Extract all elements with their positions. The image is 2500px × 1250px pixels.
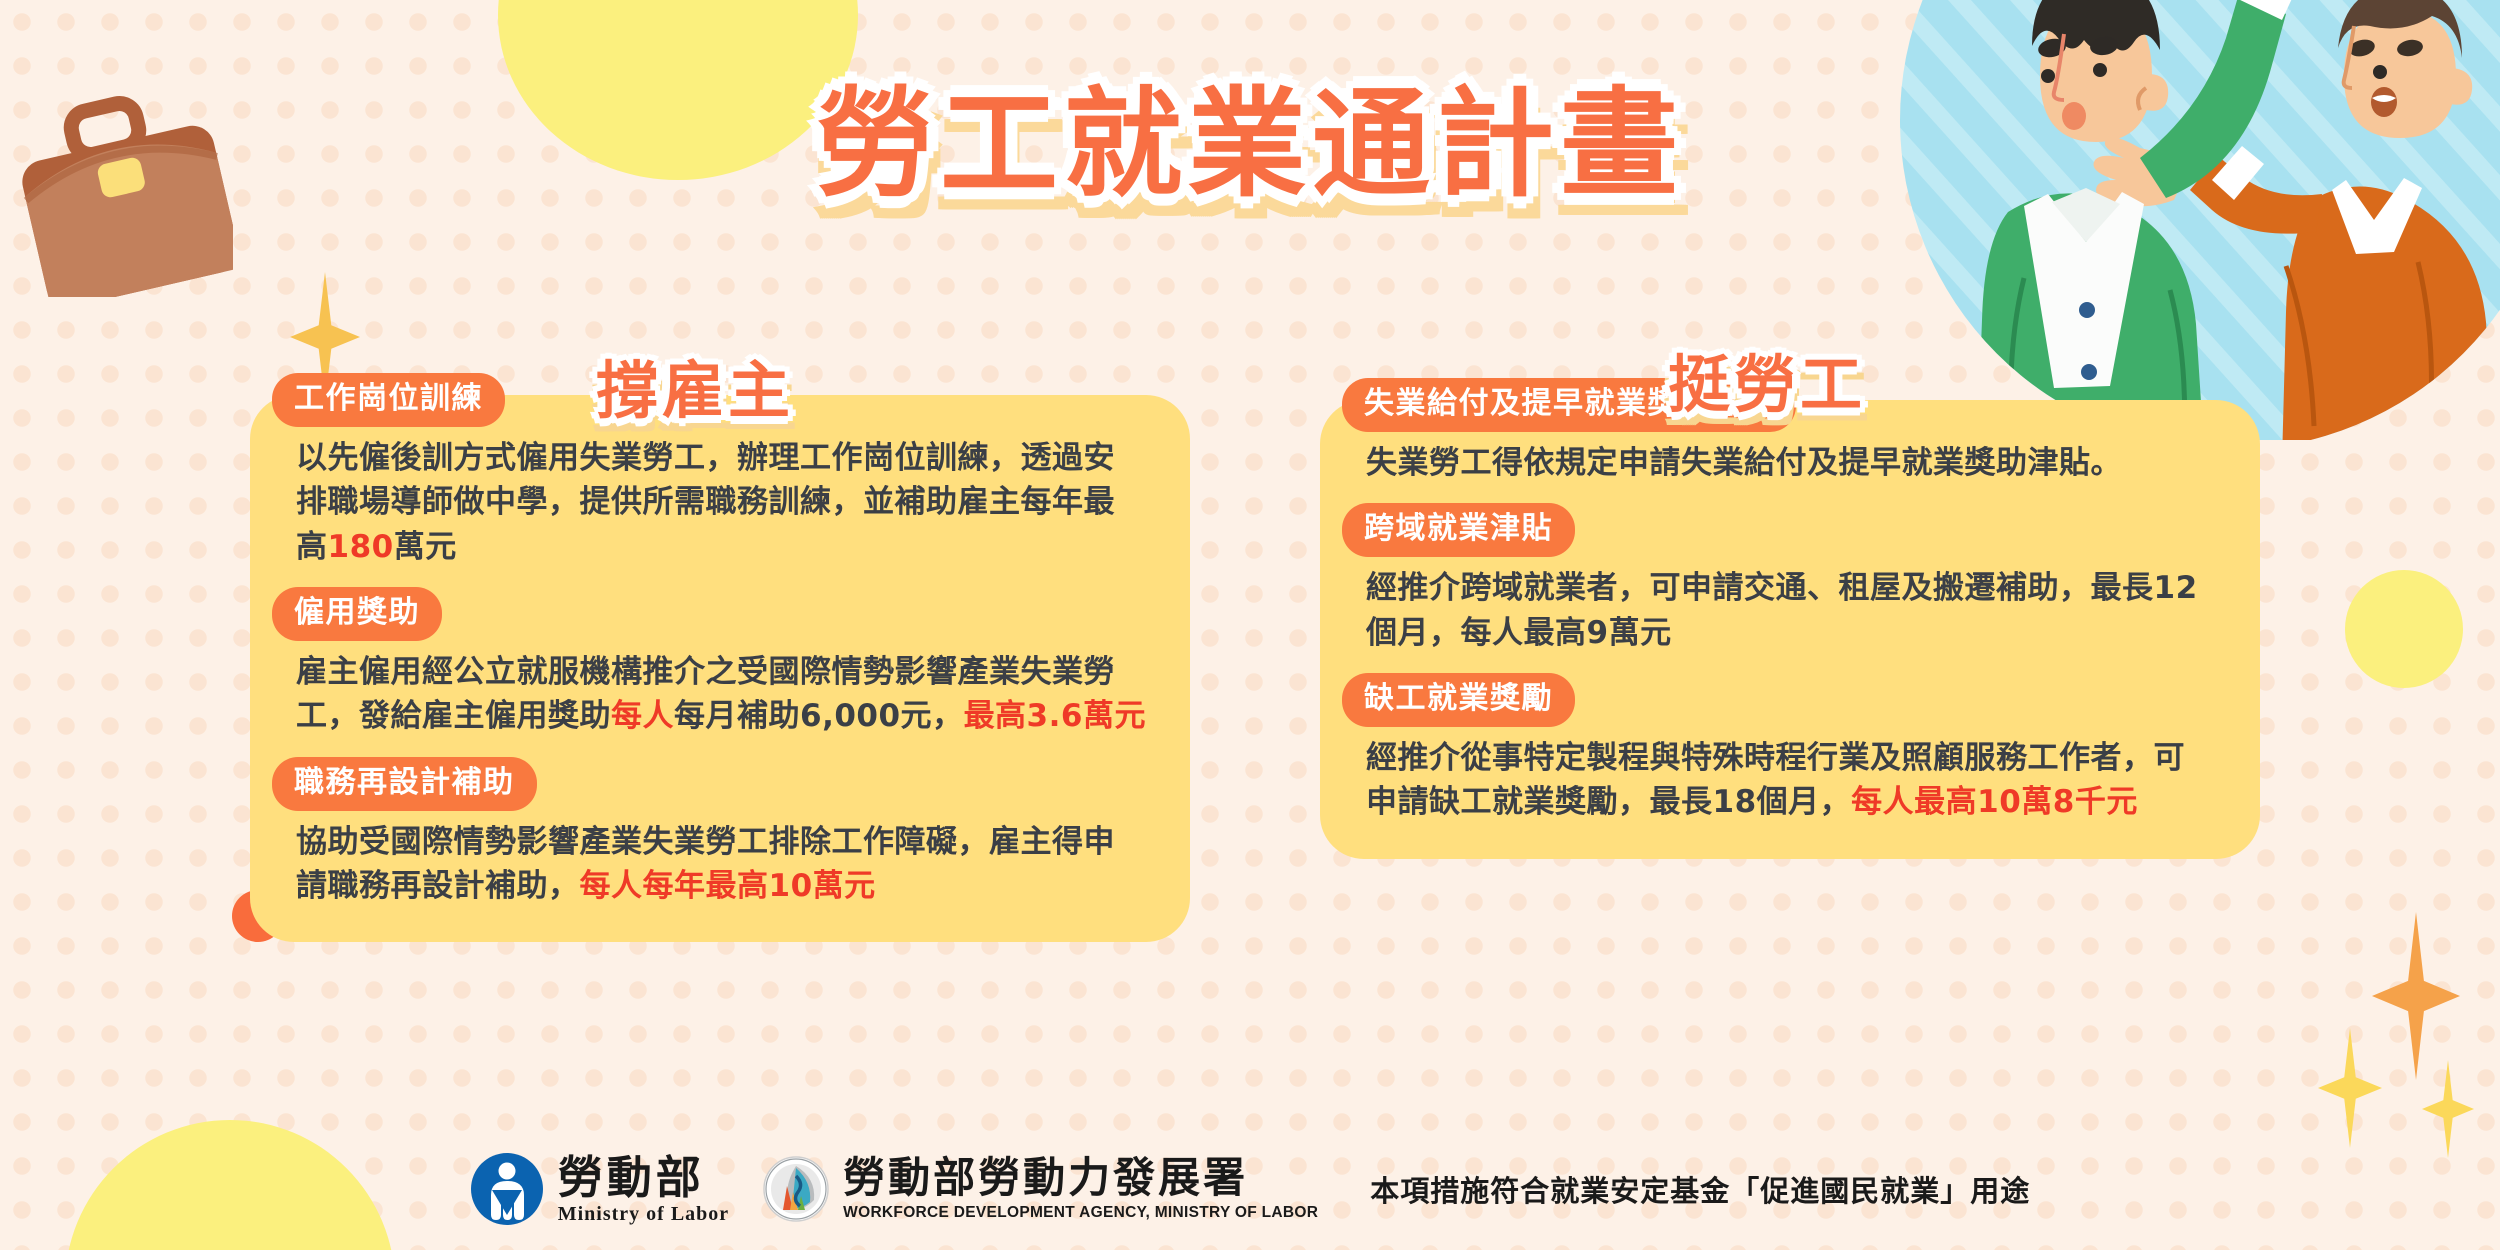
- ministry-of-labor-emblem-icon: [470, 1152, 544, 1226]
- poster-root: 勞工就業通計畫 撐雇主 挺勞工 工作崗位訓練以先僱後訓方式僱用失業勞工，辦理工作…: [0, 0, 2500, 1250]
- benefit-badge: 職務再設計補助: [272, 757, 537, 811]
- benefit-description: 雇主僱用經公立就服機構推介之受國際情勢影響產業失業勞工，發給雇主僱用獎助每人每月…: [296, 650, 1164, 739]
- benefit-badge-row: 職務再設計補助: [272, 757, 1164, 811]
- highlight-text: 最高3.6萬元: [964, 698, 1146, 734]
- ministry-name-cn: 勞動部: [558, 1155, 729, 1200]
- workforce-agency-emblem-icon: [763, 1156, 829, 1222]
- benefit-description: 失業勞工得依規定申請失業給付及提早就業獎助津貼。: [1366, 441, 2234, 485]
- body-text-segment: 失業勞工得依規定申請失業給付及提早就業獎助津貼。: [1366, 445, 2122, 481]
- benefit-badge-row: 缺工就業獎勵: [1342, 673, 2234, 727]
- benefit-badge: 僱用獎助: [272, 587, 442, 641]
- agency-name-en: WORKFORCE DEVELOPMENT AGENCY, MINISTRY O…: [843, 1205, 1318, 1221]
- ministry-name-en: Ministry of Labor: [558, 1204, 729, 1224]
- benefit-badge: 跨域就業津貼: [1342, 503, 1575, 557]
- benefit-badge-row: 僱用獎助: [272, 587, 1164, 641]
- highlight-text: 每人最高10萬8千元: [1851, 784, 2138, 820]
- ministry-of-labor-logo-block: 勞動部 Ministry of Labor: [470, 1152, 729, 1226]
- highlight-text: 180: [328, 529, 394, 565]
- benefit-item: 職務再設計補助協助受國際情勢影響產業失業勞工排除工作障礙，雇主得申請職務再設計補…: [272, 757, 1164, 909]
- benefit-description: 以先僱後訓方式僱用失業勞工，辦理工作崗位訓練，透過安排職場導師做中學，提供所需職…: [296, 436, 1164, 569]
- benefit-description: 協助受國際情勢影響產業失業勞工排除工作障礙，雇主得申請職務再設計補助，每人每年最…: [296, 820, 1164, 909]
- poster-title-wrap: 勞工就業通計畫: [0, 34, 2500, 241]
- yellow-circle-decoration-right: [2345, 570, 2463, 688]
- column-heading-employers: 撐雇主: [596, 340, 794, 430]
- column-heading-workers: 挺勞工: [1668, 334, 1866, 424]
- panel-item-list: 失業給付及提早就業獎助津貼失業勞工得依規定申請失業給付及提早就業獎助津貼。跨域就…: [1320, 400, 2260, 859]
- workforce-agency-logo-block: 勞動部勞動力發展署 WORKFORCE DEVELOPMENT AGENCY, …: [763, 1156, 1318, 1222]
- workforce-agency-text: 勞動部勞動力發展署 WORKFORCE DEVELOPMENT AGENCY, …: [843, 1157, 1318, 1221]
- body-text-segment: 經推介跨域就業者，可申請交通、租屋及搬遷補助，最長12個月，每人最高9萬元: [1366, 570, 2198, 650]
- panel-workers: 失業給付及提早就業獎助津貼失業勞工得依規定申請失業給付及提早就業獎助津貼。跨域就…: [1320, 400, 2260, 859]
- benefit-badge: 工作崗位訓練: [272, 373, 505, 427]
- page-title: 勞工就業通計畫: [788, 34, 1712, 241]
- benefit-description: 經推介從事特定製程與特殊時程行業及照顧服務工作者，可申請缺工就業獎勵，最長18個…: [1366, 736, 2234, 825]
- benefit-badge-row: 跨域就業津貼: [1342, 503, 2234, 557]
- body-text-segment: 每月補助6,000元，: [674, 698, 964, 734]
- benefit-item: 缺工就業獎勵經推介從事特定製程與特殊時程行業及照顧服務工作者，可申請缺工就業獎勵…: [1342, 673, 2234, 825]
- benefit-item: 跨域就業津貼經推介跨域就業者，可申請交通、租屋及搬遷補助，最長12個月，每人最高…: [1342, 503, 2234, 655]
- benefit-badge: 缺工就業獎勵: [1342, 673, 1575, 727]
- footer-note: 本項措施符合就業安定基金「促進國民就業」用途: [1370, 1168, 2030, 1210]
- panel-employers: 工作崗位訓練以先僱後訓方式僱用失業勞工，辦理工作崗位訓練，透過安排職場導師做中學…: [250, 395, 1190, 942]
- ministry-of-labor-text: 勞動部 Ministry of Labor: [558, 1155, 729, 1224]
- panel-item-list: 工作崗位訓練以先僱後訓方式僱用失業勞工，辦理工作崗位訓練，透過安排職場導師做中學…: [250, 395, 1190, 942]
- body-text-segment: 萬元: [394, 529, 457, 565]
- benefit-item: 僱用獎助雇主僱用經公立就服機構推介之受國際情勢影響產業失業勞工，發給雇主僱用獎助…: [272, 587, 1164, 739]
- benefit-description: 經推介跨域就業者，可申請交通、租屋及搬遷補助，最長12個月，每人最高9萬元: [1366, 566, 2234, 655]
- agency-name-cn: 勞動部勞動力發展署: [843, 1157, 1318, 1199]
- footer: 勞動部 Ministry of Labor 勞動部勞動力發展署 WORKFORC…: [0, 1152, 2500, 1226]
- highlight-text: 每人: [611, 698, 674, 734]
- highlight-text: 每人每年最高10萬元: [580, 868, 876, 904]
